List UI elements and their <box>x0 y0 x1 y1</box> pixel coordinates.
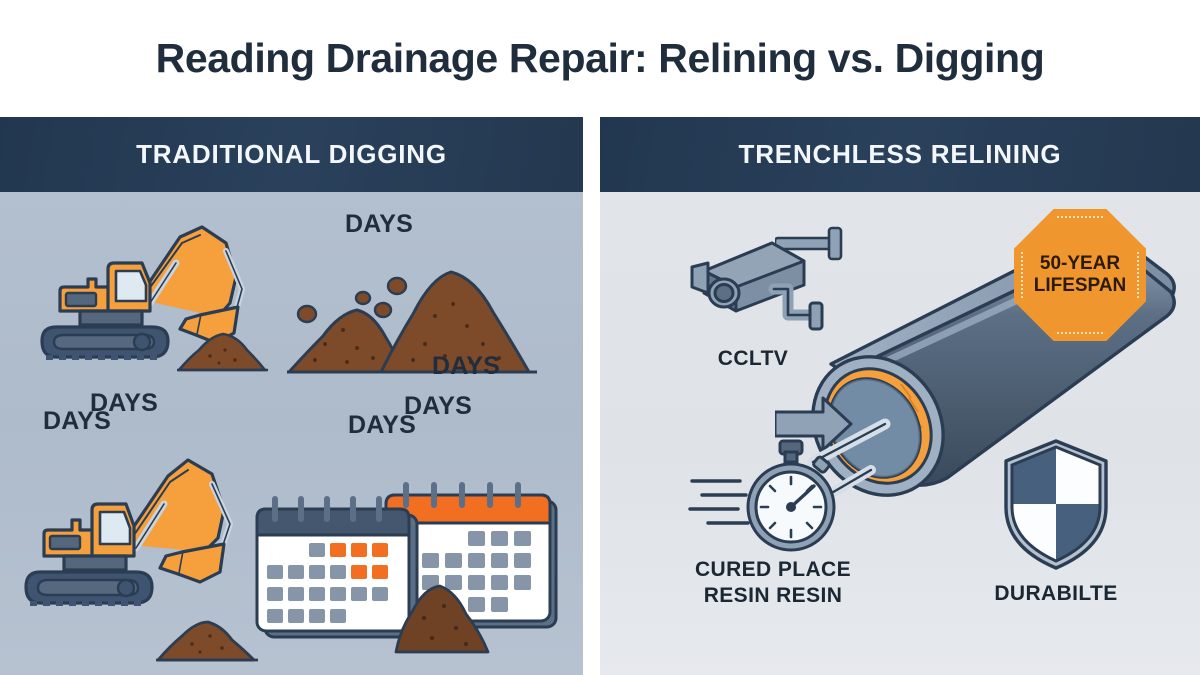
panel-right-header-text: TRENCHLESS RELINING <box>739 139 1062 170</box>
panel-trenchless-relining: TRENCHLESS RELINING <box>600 117 1200 675</box>
lifespan-badge: 50-YEAR LIFESPAN <box>1014 209 1146 341</box>
dirt-pile-small-icon <box>175 318 270 378</box>
dirt-pile-calendar-icon <box>388 558 498 658</box>
cctv-camera-icon <box>678 227 828 337</box>
panel-left-header-text: TRADITIONAL DIGGING <box>136 139 447 170</box>
resin-label: CURED PLACE RESIN RESIN <box>658 557 888 608</box>
panel-traditional-digging: TRADITIONAL DIGGING <box>0 117 583 675</box>
resin-label-line-1: CURED PLACE <box>658 557 888 583</box>
days-label: DAYS <box>348 411 416 440</box>
resin-label-line-2: RESIN RESIN <box>658 583 888 609</box>
dirt-pile-large-icon <box>285 252 545 382</box>
durability-label: DURABILTE <box>971 582 1141 606</box>
infographic-root: Reading Drainage Repair: Relining vs. Di… <box>0 0 1200 675</box>
panel-right-header: TRENCHLESS RELINING <box>600 117 1200 192</box>
title-bar: Reading Drainage Repair: Relining vs. Di… <box>0 0 1200 117</box>
panel-left-body: DAYS DAYS DAYS DAYS DAYS DAYS <box>0 192 583 675</box>
page-title: Reading Drainage Repair: Relining vs. Di… <box>156 35 1045 82</box>
panel-right-body: 50-YEAR LIFESPAN <box>600 192 1200 675</box>
dirt-pile-mid-icon <box>152 602 262 672</box>
badge-line-2: LIFESPAN <box>1034 275 1127 297</box>
cctv-label: CCLTV <box>668 347 838 371</box>
stopwatch-icon <box>688 437 858 562</box>
badge-line-1: 50-YEAR <box>1040 253 1120 275</box>
days-label: DAYS <box>43 407 111 436</box>
days-label: DAYS <box>432 352 500 381</box>
days-label: DAYS <box>345 210 413 239</box>
shield-icon <box>996 437 1116 572</box>
panel-left-header: TRADITIONAL DIGGING <box>0 117 583 192</box>
